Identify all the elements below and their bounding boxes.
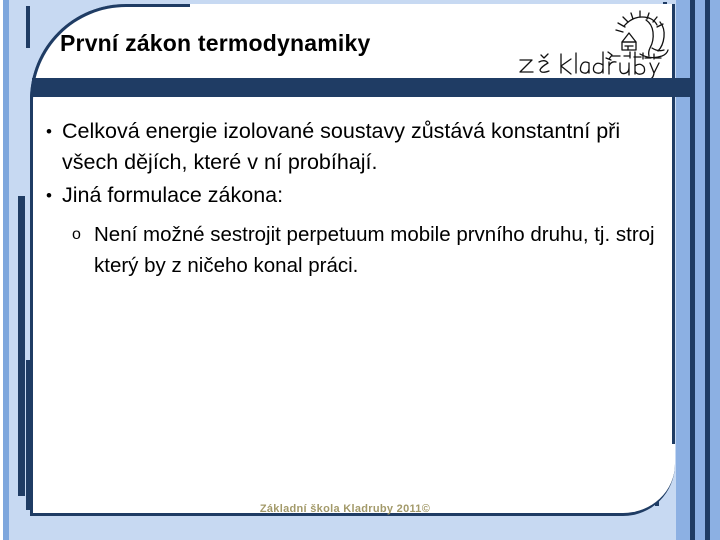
slide-footer: Základní škola Kladruby 2011© <box>0 503 690 515</box>
title-divider-bar <box>32 78 690 97</box>
school-logo-drawing <box>512 8 692 80</box>
right-band-light-2 <box>695 0 705 540</box>
circle-bullet-marker-icon: o <box>72 219 94 250</box>
slide-title: První zákon termodynamiky <box>60 28 500 58</box>
list-item: • Celková energie izolované soustavy zůs… <box>36 116 666 178</box>
bullet-text: Jiná formulace zákona: <box>62 180 666 211</box>
school-logo <box>512 8 692 80</box>
slide-body: • Celková energie izolované soustavy zůs… <box>36 116 666 281</box>
right-band-light-3 <box>710 0 720 540</box>
bullet-marker-icon: • <box>36 116 62 147</box>
list-item: • Jiná formulace zákona: <box>36 180 666 211</box>
bullet-marker-icon: • <box>36 180 62 211</box>
decorative-rule-left-middle <box>18 196 25 496</box>
sub-bullet-text: Není možné sestrojit perpetuum mobile pr… <box>94 219 666 281</box>
slide-canvas: První zákon termodynamiky <box>0 0 720 540</box>
list-item: o Není možné sestrojit perpetuum mobile … <box>72 219 666 281</box>
decorative-rule-left-top <box>26 6 30 48</box>
bullet-text: Celková energie izolované soustavy zůstá… <box>62 116 666 178</box>
sub-bullet-list: o Není možné sestrojit perpetuum mobile … <box>36 219 666 281</box>
